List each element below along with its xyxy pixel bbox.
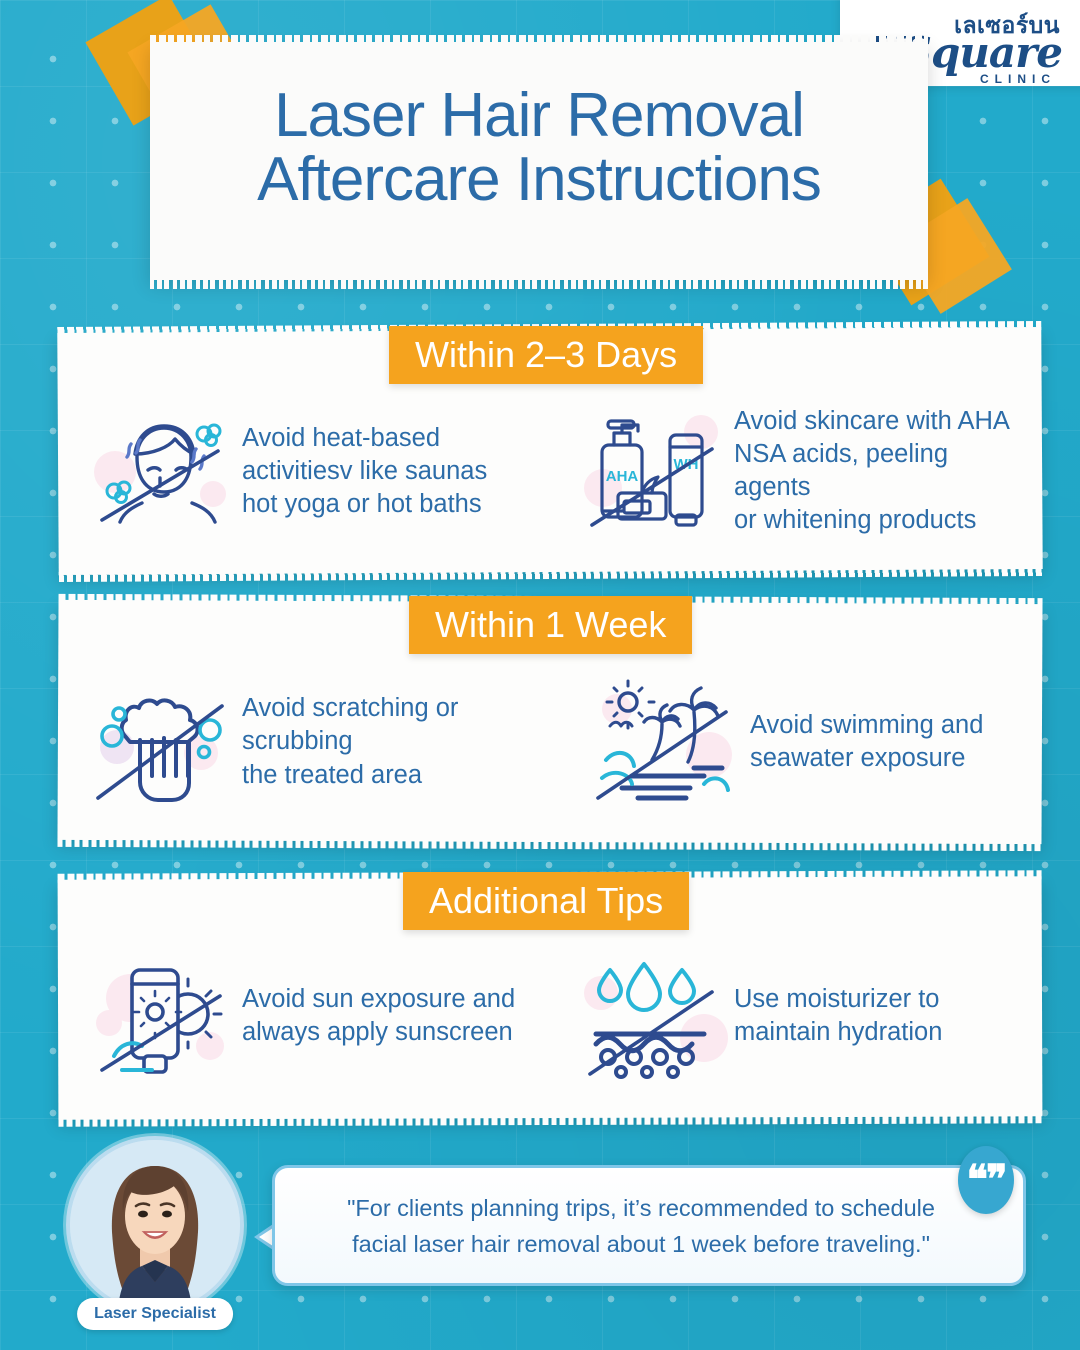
- section-2-items: Avoid scratching or scrubbing the treate…: [58, 678, 1042, 806]
- section-tag-3: Additional Tips: [403, 872, 689, 930]
- list-item-text: Use moisturizer to maintain hydration: [734, 983, 942, 1049]
- testimonial-quote: "For clients planning trips, it’s recomm…: [303, 1190, 979, 1263]
- list-item: Avoid swimming and seawater exposure: [550, 678, 1042, 806]
- section-3-items: Avoid sun exposure and always apply suns…: [58, 952, 1042, 1080]
- testimonial-bubble: "For clients planning trips, it’s recomm…: [272, 1165, 1026, 1286]
- brand-tagline: CLINIC: [980, 72, 1056, 86]
- infographic-poster: เลเซอร์บน VSquare CLINIC Laser Hair Remo…: [0, 0, 1080, 1350]
- list-item: Avoid heat-based activitiesv like saunas…: [58, 405, 550, 538]
- avatar: Laser Specialist: [66, 1136, 244, 1314]
- quote-mark-icon: ❝❞: [958, 1146, 1014, 1214]
- list-item-text: Avoid swimming and seawater exposure: [750, 709, 983, 775]
- avatar-label: Laser Specialist: [77, 1298, 233, 1330]
- moisturizer-hydration-icon: [584, 952, 720, 1080]
- no-heat-face-icon: [92, 407, 228, 535]
- no-beach-swimming-icon: [584, 678, 736, 806]
- sunscreen-tube-icon: [92, 952, 228, 1080]
- list-item: Avoid sun exposure and always apply suns…: [58, 952, 550, 1080]
- list-item: Avoid scratching or scrubbing the treate…: [58, 678, 550, 806]
- list-item: Use moisturizer to maintain hydration: [550, 952, 1042, 1080]
- svg-text:AHA: AHA: [606, 468, 639, 485]
- list-item-text: Avoid heat-based activitiesv like saunas…: [242, 422, 487, 521]
- avatar-photo: [66, 1136, 244, 1314]
- list-item-text: Avoid sun exposure and always apply suns…: [242, 983, 515, 1049]
- section-tag-1: Within 2–3 Days: [389, 326, 703, 384]
- section-1-items: Avoid heat-based activitiesv like saunas…: [58, 405, 1042, 538]
- page-title: Laser Hair Removal Aftercare Instruction…: [150, 84, 928, 213]
- list-item: AHA WH Avoid skincare with AHA NSA acids…: [550, 405, 1042, 538]
- section-tag-2: Within 1 Week: [409, 596, 692, 654]
- list-item-text: Avoid scratching or scrubbing the treate…: [242, 692, 458, 791]
- list-item-text: Avoid skincare with AHA NSA acids, peeli…: [734, 405, 1028, 538]
- header-paper-card: Laser Hair Removal Aftercare Instruction…: [150, 42, 928, 280]
- no-scrubbing-hand-icon: [92, 678, 228, 806]
- no-acid-skincare-icon: AHA WH: [584, 407, 720, 535]
